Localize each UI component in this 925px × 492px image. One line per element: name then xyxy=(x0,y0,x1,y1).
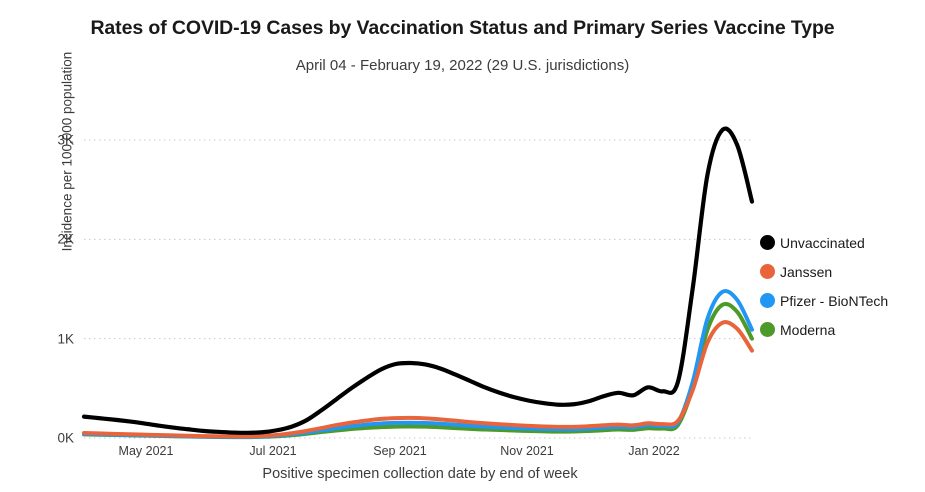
legend-item[interactable]: Moderna xyxy=(760,315,925,344)
legend-item-label: Unvaccinated xyxy=(780,235,865,251)
chart-legend: UnvaccinatedJanssenPfizer - BioNTechMode… xyxy=(760,228,925,344)
legend-swatch-icon xyxy=(760,264,775,279)
covid-rates-chart: Rates of COVID-19 Cases by Vaccination S… xyxy=(0,0,925,492)
legend-swatch-icon xyxy=(760,235,775,250)
legend-item[interactable]: Janssen xyxy=(760,257,925,286)
legend-swatch-icon xyxy=(760,322,775,337)
legend-item[interactable]: Unvaccinated xyxy=(760,228,925,257)
series-line-unvaccinated xyxy=(84,129,752,433)
series-line-janssen xyxy=(84,322,752,436)
legend-item-label: Moderna xyxy=(780,322,835,338)
legend-item-label: Janssen xyxy=(780,264,832,280)
legend-item-label: Pfizer - BioNTech xyxy=(780,293,888,309)
legend-swatch-icon xyxy=(760,293,775,308)
legend-item[interactable]: Pfizer - BioNTech xyxy=(760,286,925,315)
